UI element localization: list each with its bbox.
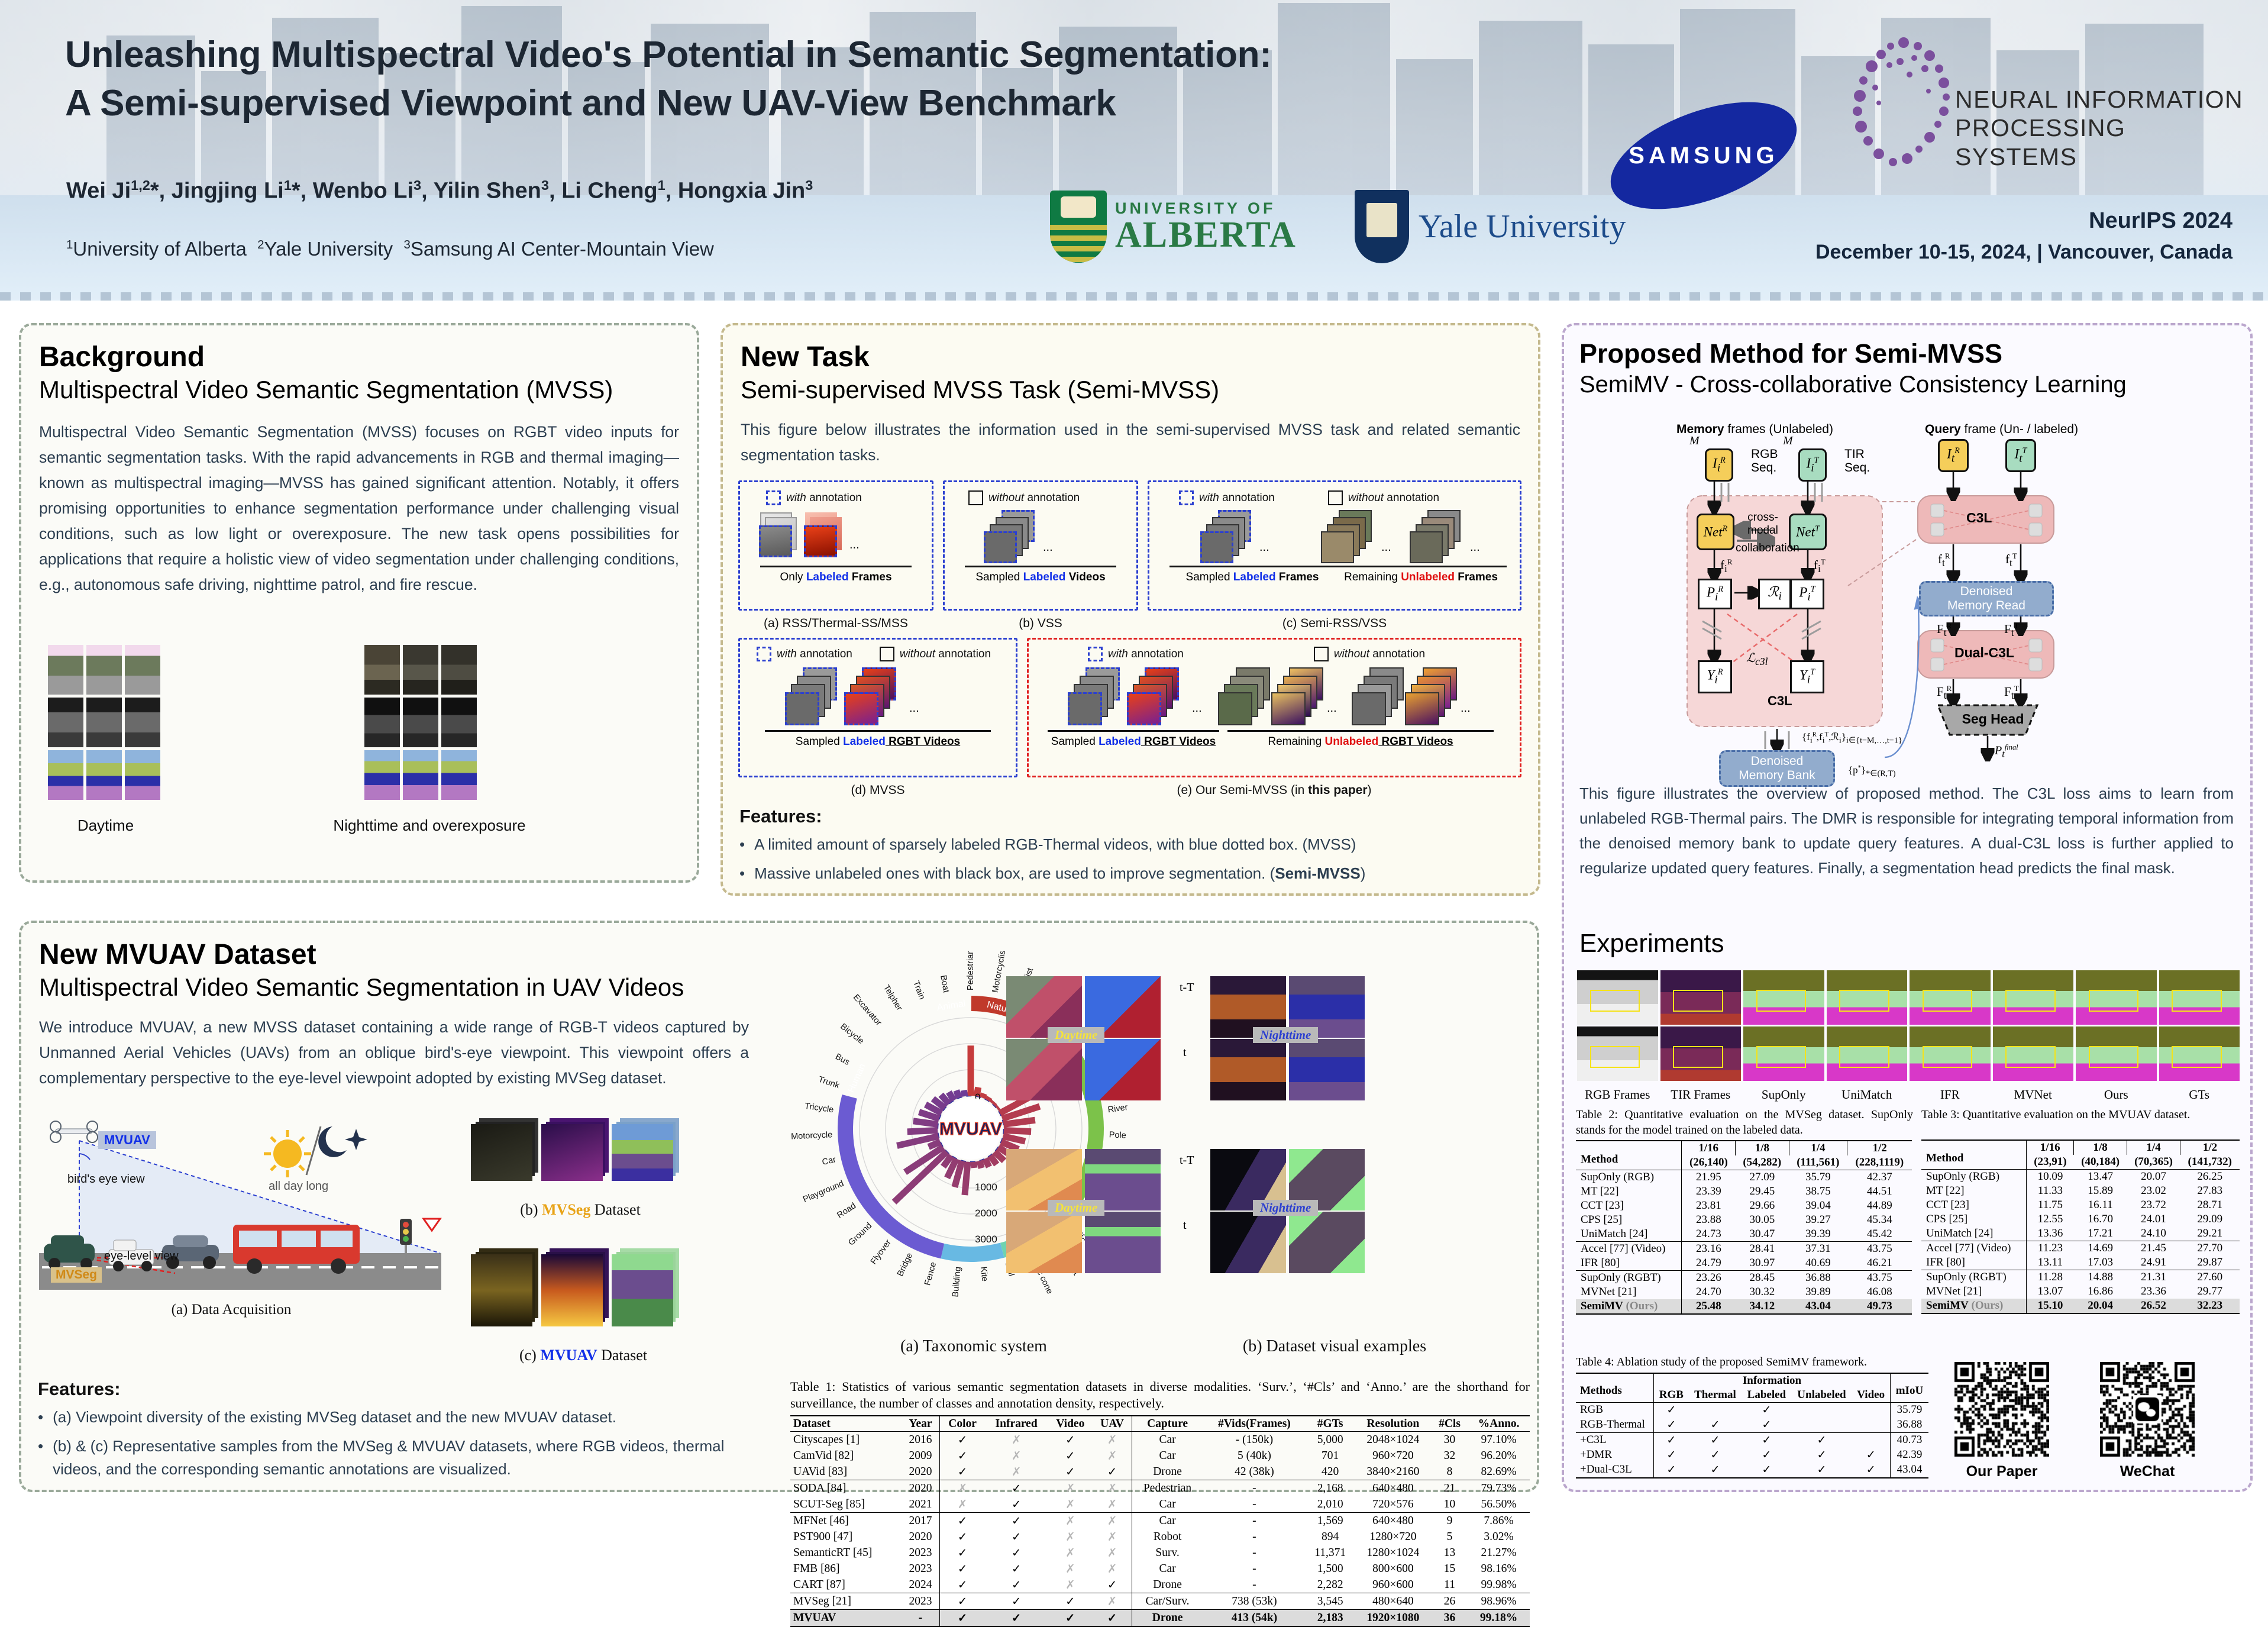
- yale-logo-text: Yale University: [1419, 208, 1626, 246]
- qualitative-label: TIR Frames: [1660, 1087, 1742, 1102]
- table-cell-value: 34.12: [1736, 1299, 1789, 1314]
- memory-set-label: {fiR,fiT,ℛi}i∈{t−M,…,t−1}: [1802, 731, 1902, 745]
- table-row: MFNet [46]2017✓✓✗✗Car-1,569640×48097.86%: [790, 1513, 1530, 1529]
- table-cell: ✗: [985, 1464, 1048, 1480]
- feature-rgb-label: fiR: [1720, 557, 1733, 575]
- table-cell: 7.86%: [1468, 1513, 1530, 1529]
- table-row: Cityscapes [1]2016✓✗✓✗Car- (150k)5,00020…: [790, 1432, 1530, 1448]
- legend-with-annotation-icon: [1088, 647, 1103, 661]
- highlight-box: [1590, 990, 1640, 1012]
- qualitative-image: [1910, 970, 1991, 1025]
- pseudo-rgb-block: PiR: [1698, 579, 1732, 609]
- table-cell-value: 16.86: [2074, 1284, 2127, 1299]
- alberta-logo-bottom: ALBERTA: [1115, 217, 1297, 253]
- table-cell: MFNet [46]: [790, 1513, 902, 1529]
- table-cell-value: 20.04: [2074, 1299, 2127, 1313]
- caption-task-c: (c) Semi-RSS/VSS: [1148, 616, 1521, 631]
- neurips-swirl-icon: [1840, 34, 1958, 182]
- table-cell-value: 40.69: [1789, 1256, 1847, 1271]
- task-e-group-label-2: Remaining Unlabeled RGBT Videos: [1227, 735, 1494, 748]
- table-row: +C3L✓✓✓✓40.73: [1576, 1432, 1928, 1448]
- wechat-qr-code[interactable]: [2100, 1362, 2195, 1457]
- table-cell: ✓: [940, 1513, 985, 1529]
- table1: DatasetYearColorInfraredVideoUAVCapture#…: [790, 1415, 1530, 1627]
- table-cell: 32: [1432, 1448, 1468, 1464]
- table-cell-method: UniMatch [24]: [1576, 1227, 1682, 1242]
- table-cell-method: IFR [80]: [1921, 1255, 2027, 1270]
- table-cell: Car: [1132, 1496, 1203, 1513]
- table4-block: Table 4: Ablation study of the proposed …: [1576, 1355, 1931, 1478]
- dataset-feature-text: (b) & (c) Representative samples from th…: [53, 1435, 754, 1481]
- caption-taxonomic-system: (a) Taxonomic system: [849, 1337, 1098, 1356]
- qualitative-column: [1993, 970, 2074, 1081]
- qualitative-image: [1660, 970, 1742, 1025]
- table-cell: 79.73%: [1468, 1480, 1530, 1497]
- table-cell-method: SupOnly (RGB): [1921, 1169, 2027, 1184]
- table-cell-value: 26.52: [2127, 1299, 2180, 1313]
- table-cell: SCUT-Seg [85]: [790, 1496, 902, 1513]
- table-cell: 1280×1024: [1355, 1545, 1432, 1561]
- highlight-box: [1590, 1046, 1640, 1068]
- table-row: SupOnly (RGB)10.0913.4720.0726.25: [1921, 1169, 2240, 1184]
- table-cell-check: [1791, 1402, 1852, 1418]
- table-cell-check: [1791, 1418, 1852, 1433]
- table-cell: ✗: [1048, 1577, 1093, 1593]
- table-cell-method: MVNet [21]: [1921, 1284, 2027, 1299]
- table-cell-check: [1852, 1418, 1890, 1433]
- table-cell: Drone: [1132, 1577, 1203, 1593]
- table-cell: SemanticRT [45]: [790, 1545, 902, 1561]
- neurips-line-2: PROCESSING SYSTEMS: [1955, 114, 2254, 171]
- table1-header: Dataset: [790, 1416, 902, 1432]
- table-cell-value: 27.70: [2180, 1241, 2240, 1255]
- table-cell: 30: [1432, 1432, 1468, 1448]
- table-cell: 26: [1432, 1593, 1468, 1610]
- table-cell-method: SupOnly (RGBT): [1921, 1270, 2027, 1284]
- radial-category-label: Fence: [923, 1261, 938, 1286]
- table-cell: ✓: [940, 1610, 985, 1627]
- caption-task-a: (a) RSS/Thermal-SS/MSS: [738, 616, 933, 631]
- table-cell-value: 29.21: [2180, 1226, 2240, 1241]
- alberta-shield-icon: [1050, 191, 1107, 263]
- row-label-t: t: [1183, 1046, 1187, 1060]
- radial-bar: [993, 1102, 994, 1103]
- new-task-paragraph: This figure below illustrates the inform…: [741, 417, 1520, 468]
- highlight-box: [1839, 990, 1889, 1012]
- table-cell: 2,168: [1306, 1480, 1354, 1497]
- qualitative-column: [1577, 970, 1658, 1081]
- table-cell-miou: 40.73: [1890, 1432, 1928, 1448]
- table4-info-col: Thermal: [1689, 1388, 1742, 1403]
- table1-header: Color: [940, 1416, 985, 1432]
- table-cell-method: MVNet [21]: [1576, 1285, 1682, 1299]
- dataset-heading: New MVUAV Dataset: [39, 938, 749, 971]
- table-cell-check: ✓: [1742, 1448, 1791, 1463]
- table-cell: ✓: [940, 1577, 985, 1593]
- university-of-alberta-logo: UNIVERSITY OF ALBERTA: [1050, 188, 1334, 265]
- table-row: SODA [84]2020✗✓✗✗Pedestrian-2,168640×480…: [790, 1480, 1530, 1497]
- table3-method-header: Method: [1921, 1140, 2027, 1170]
- table-cell: 1920×1080: [1355, 1610, 1432, 1627]
- table-cell: ✓: [940, 1448, 985, 1464]
- caption-data-acquisition: (a) Data Acquisition: [134, 1302, 329, 1318]
- table-row: Accel [77] (Video)23.1628.4137.3143.75: [1576, 1242, 1912, 1257]
- conference-name: NeurIPS 2024: [1815, 208, 2233, 234]
- table-cell: 894: [1306, 1529, 1354, 1545]
- table-row: SemanticRT [45]2023✓✓✗✗Surv.-11,3711280×…: [790, 1545, 1530, 1561]
- radial-category-label: Bridge: [896, 1251, 915, 1278]
- highlight-box: [1673, 1046, 1723, 1068]
- table-cell: ✓: [985, 1513, 1048, 1529]
- table-cell: Cityscapes [1]: [790, 1432, 902, 1448]
- radial-category-label: Playground: [802, 1179, 845, 1205]
- eye-level-view-label: eye-level view: [104, 1250, 179, 1263]
- table-cell: ✓: [1093, 1464, 1132, 1480]
- table-cell: 2,183: [1306, 1610, 1354, 1627]
- table-row: Accel [77] (Video)11.2314.6921.4527.70: [1921, 1241, 2240, 1255]
- table-row: MVNet [21]13.0716.8623.3629.77: [1921, 1284, 2240, 1299]
- radial-category-label: Train: [911, 980, 926, 1001]
- row-label-t-minus-T: t-T: [1180, 1154, 1194, 1167]
- qualitative-image: [1827, 1026, 1908, 1081]
- radial-category-label: Bicycle: [838, 1022, 865, 1046]
- table-cell: 2023: [902, 1545, 940, 1561]
- table-cell-value: 45.34: [1847, 1213, 1912, 1227]
- table-cell-value: 15.89: [2074, 1184, 2127, 1198]
- table2-count-header: (26,140): [1682, 1155, 1736, 1170]
- qr-wechat-label: WeChat: [2100, 1463, 2195, 1480]
- radial-bar: [983, 1093, 984, 1097]
- table-cell-check: ✓: [1654, 1448, 1689, 1463]
- table4-info-col: Labeled: [1742, 1388, 1791, 1403]
- neurips-logo: NEURAL INFORMATION PROCESSING SYSTEMS: [1840, 34, 2254, 194]
- table-cell: ✓: [940, 1561, 985, 1577]
- table-row: CPS [25]12.5516.7024.0129.09: [1921, 1212, 2240, 1226]
- table-cell: ✗: [985, 1448, 1048, 1464]
- table-cell: 2048×1024: [1355, 1432, 1432, 1448]
- qualitative-column: [2159, 970, 2240, 1081]
- qualitative-column: [2076, 970, 2157, 1081]
- table-cell-check: ✓: [1742, 1418, 1791, 1433]
- table-cell-value: 37.31: [1789, 1242, 1847, 1257]
- legend-ann-word: annotation: [806, 492, 862, 504]
- table-cell-value: 39.27: [1789, 1213, 1847, 1227]
- title-line-1: Unleashing Multispectral Video's Potenti…: [65, 31, 1585, 79]
- table-cell: 9: [1432, 1513, 1468, 1529]
- table-cell-value: 14.88: [2074, 1270, 2127, 1284]
- qualitative-label: Ours: [2076, 1087, 2157, 1102]
- table-row: UniMatch [24]13.3617.2124.1029.21: [1921, 1226, 2240, 1241]
- table-cell-value: 24.73: [1682, 1227, 1736, 1242]
- table-cell: ✓: [1048, 1448, 1093, 1464]
- table-cell: 2,282: [1306, 1577, 1354, 1593]
- table-cell-value: 13.07: [2027, 1284, 2074, 1299]
- table-row: SupOnly (RGB)21.9527.0935.7942.37: [1576, 1170, 1912, 1185]
- table-cell: ✗: [1093, 1545, 1132, 1561]
- table-cell: 2016: [902, 1432, 940, 1448]
- table-cell: ✗: [1048, 1561, 1093, 1577]
- table-cell-method: CCT [23]: [1576, 1199, 1682, 1213]
- table-cell: ✓: [985, 1593, 1048, 1610]
- highlight-box: [1923, 1046, 1973, 1068]
- legend-without-em: without: [988, 492, 1024, 504]
- radial-category-label: Excavator: [851, 993, 884, 1028]
- table-row: +DMR✓✓✓✓✓42.39: [1576, 1448, 1928, 1463]
- yale-shield-icon: [1355, 190, 1409, 263]
- table-cell-miou: 35.79: [1890, 1402, 1928, 1418]
- table4-caption: Table 4: Ablation study of the proposed …: [1576, 1355, 1931, 1370]
- dataset-subheading: Multispectral Video Semantic Segmentatio…: [39, 973, 749, 1002]
- table-cell: ✓: [985, 1496, 1048, 1513]
- table-cell: 960×720: [1355, 1448, 1432, 1464]
- legend-with-em: with: [786, 492, 806, 504]
- radial-bar: [1004, 1131, 1031, 1132]
- dataset-feature-item: •(a) Viewpoint diversity of the existing…: [38, 1406, 754, 1429]
- tick-1000: 1000: [975, 1181, 997, 1193]
- conference-date-location: December 10-15, 2024, | Vancouver, Canad…: [1815, 241, 2233, 264]
- table-cell: ✓: [985, 1480, 1048, 1497]
- table-cell: UAVid [83]: [790, 1464, 902, 1480]
- radial-category-label: Ground: [847, 1221, 874, 1248]
- table-row: PST900 [47]2020✓✓✗✗Robot-8941280×72053.0…: [790, 1529, 1530, 1545]
- table3-block: Table 3: Quantitative evaluation on the …: [1921, 1108, 2241, 1314]
- table-cell-value: 13.36: [2027, 1226, 2074, 1241]
- table-cell: 36: [1432, 1610, 1468, 1627]
- table-cell-value: 27.60: [2180, 1270, 2240, 1284]
- table-cell: ✗: [1093, 1593, 1132, 1610]
- table-cell-method: SupOnly (RGBT): [1576, 1271, 1682, 1286]
- final-prediction-label: Ptfinal: [1995, 743, 2018, 760]
- radial-bar: [907, 1131, 938, 1132]
- qualitative-label: IFR: [1910, 1087, 1991, 1102]
- updated-feature-rgb-label: FtR: [1937, 621, 1952, 639]
- task-panel-d: with annotation without annotation ... S…: [738, 638, 1017, 777]
- table-cell: 56.50%: [1468, 1496, 1530, 1513]
- memory-count-label: M: [1689, 434, 1700, 448]
- table-cell-value: 29.66: [1736, 1199, 1789, 1213]
- table-cell-check: ✓: [1689, 1463, 1742, 1478]
- legend-without-annotation-icon: [968, 490, 983, 505]
- mvuav-dataset-section: New MVUAV Dataset Multispectral Video Se…: [19, 921, 1539, 1492]
- method-diagram-svg: [1671, 426, 2138, 769]
- radial-bar: [985, 1158, 989, 1167]
- table-cell-value: 44.51: [1847, 1184, 1912, 1199]
- new-task-heading: New Task: [741, 341, 1520, 373]
- table3-ratio-header: 1/2: [2180, 1140, 2240, 1155]
- highlight-box: [2005, 1046, 2056, 1068]
- table-cell: 5,000: [1306, 1432, 1354, 1448]
- table2: Method1/161/81/41/2(26,140)(54,282)(111,…: [1576, 1140, 1912, 1315]
- table-cell: 2020: [902, 1529, 940, 1545]
- highlight-box: [2089, 1046, 2139, 1068]
- table-cell: Drone: [1132, 1610, 1203, 1627]
- table-cell: ✓: [940, 1593, 985, 1610]
- highlight-box: [2005, 990, 2056, 1012]
- table4-info-col: RGB: [1654, 1388, 1689, 1403]
- table-cell: 42 (38k): [1203, 1464, 1306, 1480]
- qualitative-column: [1827, 970, 1908, 1081]
- table-cell: 3840×2160: [1355, 1464, 1432, 1480]
- table-row: RGB-Thermal✓✓✓36.88: [1576, 1418, 1928, 1433]
- qualitative-column: [1743, 970, 1824, 1081]
- yale-university-logo: Yale University: [1355, 188, 1662, 265]
- legend-ann-word: annotation: [1024, 492, 1080, 504]
- radial-bar: [988, 1097, 990, 1100]
- table-cell: 21.27%: [1468, 1545, 1530, 1561]
- table-row: SemiMV (Ours)25.4834.1243.0449.73: [1576, 1299, 1912, 1314]
- net-rgb-block: NetR: [1697, 514, 1734, 550]
- caption-c-highlight: MVUAV: [540, 1347, 597, 1364]
- paper-qr-code[interactable]: [1954, 1362, 2049, 1457]
- row-label-t: t: [1183, 1219, 1187, 1232]
- table-cell: Car/Surv.: [1132, 1593, 1203, 1610]
- query-feature-rgb-label: ftR: [1938, 551, 1950, 569]
- table2-ratio-header: 1/4: [1789, 1141, 1847, 1155]
- table-cell: Robot: [1132, 1529, 1203, 1545]
- method-heading: Proposed Method for Semi-MVSS: [1579, 338, 2235, 369]
- table-cell: ✗: [1093, 1529, 1132, 1545]
- table-cell-check: ✓: [1654, 1402, 1689, 1418]
- title-line-2: A Semi-supervised Viewpoint and New UAV-…: [65, 79, 1585, 128]
- table-cell-method: SemiMV (Ours): [1921, 1299, 2027, 1313]
- table-cell-check: ✓: [1742, 1463, 1791, 1478]
- header-bottom-rule: [0, 292, 2268, 301]
- radial-category-label: Boat: [938, 974, 951, 993]
- memory-count-label: M: [1783, 434, 1793, 448]
- table-cell: 960×600: [1355, 1577, 1432, 1593]
- table-cell-value: 32.23: [2180, 1299, 2240, 1313]
- caption-b-suffix: Dataset: [590, 1201, 640, 1218]
- highlight-box: [2172, 990, 2222, 1012]
- table-cell: 96.20%: [1468, 1448, 1530, 1464]
- table-cell-method: RGB-Thermal: [1576, 1418, 1654, 1433]
- table-cell-value: 23.88: [1682, 1213, 1736, 1227]
- table1-header: %Anno.: [1468, 1416, 1530, 1432]
- task-b-group-label: Sampled Labeled Videos: [945, 571, 1136, 584]
- table-cell: ✗: [940, 1496, 985, 1513]
- table-cell-check: [1852, 1402, 1890, 1418]
- table4-info-header: Information: [1654, 1373, 1891, 1388]
- table-cell: ✗: [940, 1480, 985, 1497]
- table-row: CCT [23]11.7516.1123.7228.71: [1921, 1198, 2240, 1212]
- table-cell: 98.16%: [1468, 1561, 1530, 1577]
- table-cell: 99.18%: [1468, 1610, 1530, 1627]
- table-cell: 2020: [902, 1464, 940, 1480]
- radial-bar: [1003, 1120, 1035, 1124]
- task-e-group-label-1: Sampled Labeled RGBT Videos: [1048, 735, 1219, 748]
- table-cell-value: 23.72: [2127, 1198, 2180, 1212]
- table-cell: ✓: [940, 1464, 985, 1480]
- mvseg-samples-figure: [471, 1124, 673, 1181]
- table3-ratio-header: 1/4: [2127, 1140, 2180, 1155]
- table-cell-value: 39.04: [1789, 1199, 1847, 1213]
- table-cell: PST900 [47]: [790, 1529, 902, 1545]
- table-cell-value: 42.37: [1847, 1170, 1912, 1185]
- table-cell: ✓: [985, 1610, 1048, 1627]
- new-task-feature-item: •A limited amount of sparsely labeled RG…: [739, 833, 1526, 856]
- table-row: MVSeg [21]2023✓✓✓✗Car/Surv.738 (53k)3,54…: [790, 1593, 1530, 1610]
- highlight-box: [2172, 1046, 2222, 1068]
- table1-header: Capture: [1132, 1416, 1203, 1432]
- table-cell: 98.96%: [1468, 1593, 1530, 1610]
- table-cell: 2,010: [1306, 1496, 1354, 1513]
- table-cell-value: 11.23: [2027, 1241, 2074, 1255]
- legend-without-annotation-icon: [880, 647, 894, 661]
- table2-caption: Table 2: Quantitative evaluation on the …: [1576, 1108, 1913, 1138]
- highlight-box: [1923, 990, 1973, 1012]
- table-cell-value: 30.47: [1736, 1227, 1789, 1242]
- affiliation-list: 1University of Alberta 2Yale University …: [66, 238, 1072, 260]
- table-cell: 11,371: [1306, 1545, 1354, 1561]
- table-cell-value: 29.45: [1736, 1184, 1789, 1199]
- background-daytime-figure: [48, 645, 160, 800]
- table-cell-value: 39.89: [1789, 1285, 1847, 1299]
- radial-bar: [913, 1121, 938, 1125]
- table2-count-header: (111,561): [1789, 1155, 1847, 1170]
- table-cell: ✓: [1048, 1610, 1093, 1627]
- dataset-feature-text: (a) Viewpoint diversity of the existing …: [53, 1406, 616, 1429]
- table-cell-value: 21.45: [2127, 1241, 2180, 1255]
- radial-category-label: Telpher: [881, 983, 904, 1012]
- dataset-features-heading: Features:: [38, 1379, 754, 1400]
- table-cell-value: 24.10: [2127, 1226, 2180, 1241]
- table-cell-value: 24.79: [1682, 1256, 1736, 1271]
- nighttime-badge: Nighttime: [1253, 1200, 1318, 1216]
- memory-frames-title: Memory frames (Unlabeled): [1676, 422, 1833, 437]
- qualitative-image: [1993, 1026, 2074, 1081]
- feature-tir-label: fiT: [1814, 557, 1826, 575]
- table-cell: ✓: [985, 1545, 1048, 1561]
- author-list: Wei Ji1,2*, Jingjing Li1*, Wenbo Li3, Yi…: [66, 177, 1060, 204]
- table-cell: ✗: [1048, 1496, 1093, 1513]
- caption-mvseg-dataset: (b) MVSeg Dataset: [489, 1201, 672, 1219]
- caption-b-highlight: MVSeg: [542, 1201, 590, 1218]
- all-day-long-label: all day long: [269, 1180, 328, 1193]
- table-cell: MVUAV: [790, 1610, 902, 1627]
- final-feature-tir-label: FtT: [2004, 684, 2019, 702]
- table-cell-method: MT [22]: [1921, 1184, 2027, 1198]
- table-cell-value: 27.83: [2180, 1184, 2240, 1198]
- table-cell-value: 13.47: [2074, 1169, 2127, 1184]
- table-cell: 420: [1306, 1464, 1354, 1480]
- memory-tir-frame: IiT: [1798, 448, 1827, 482]
- table-cell-value: 28.45: [1736, 1271, 1789, 1286]
- table-cell-value: 30.97: [1736, 1256, 1789, 1271]
- table-row: MT [22]23.3929.4538.7544.51: [1576, 1184, 1912, 1199]
- table-cell-value: 39.39: [1789, 1227, 1847, 1242]
- table-cell-value: 29.87: [2180, 1255, 2240, 1270]
- radial-category-label: Bus: [833, 1052, 851, 1067]
- qualitative-label: MVNet: [1993, 1087, 2074, 1102]
- table-cell-value: 26.25: [2180, 1169, 2240, 1184]
- nighttime-badge: Nighttime: [1253, 1027, 1318, 1043]
- table-row: CPS [25]23.8830.0539.2745.34: [1576, 1213, 1912, 1227]
- caption-task-b: (b) VSS: [943, 616, 1138, 631]
- table2-ratio-header: 1/16: [1682, 1141, 1736, 1155]
- table-cell: 1280×720: [1355, 1529, 1432, 1545]
- table-cell: ✓: [940, 1529, 985, 1545]
- table-cell-check: ✓: [1852, 1463, 1890, 1478]
- table-cell: 1,569: [1306, 1513, 1354, 1529]
- legend-without-annotation-icon: [1328, 490, 1343, 505]
- table-cell-value: 23.26: [1682, 1271, 1736, 1286]
- table-cell-miou: 42.39: [1890, 1448, 1928, 1463]
- table-cell-check: ✓: [1689, 1448, 1742, 1463]
- radial-bar: [1003, 1136, 1026, 1141]
- table-cell-value: 12.55: [2027, 1212, 2074, 1226]
- table-cell-check: ✓: [1791, 1432, 1852, 1448]
- table2-method-header: Method: [1576, 1141, 1682, 1170]
